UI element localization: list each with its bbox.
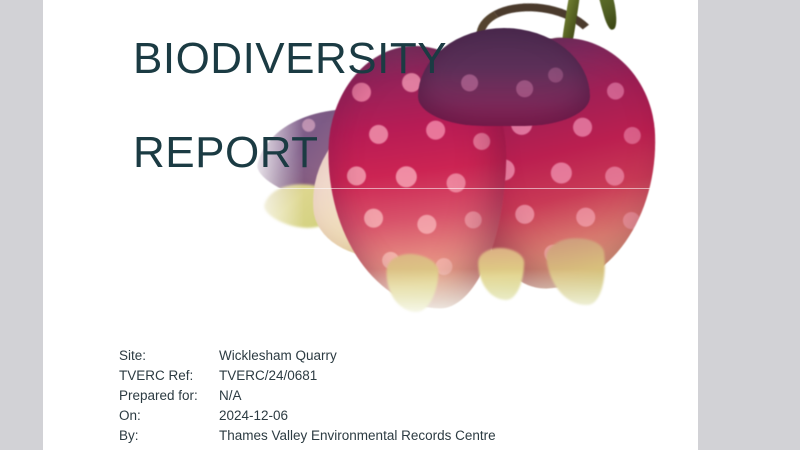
meta-label-tverc-ref: TVERC Ref: bbox=[119, 366, 219, 386]
meta-label-by: By: bbox=[119, 426, 219, 446]
meta-label-on: On: bbox=[119, 406, 219, 426]
meta-row-on: On: 2024-12-06 bbox=[119, 406, 496, 426]
meta-row-by-continued: Library and Shop, etc. bbox=[119, 446, 496, 450]
meta-value-on: 2024-12-06 bbox=[219, 406, 288, 426]
meta-value-by-continued: Library and Shop, etc. bbox=[219, 446, 351, 450]
photo-fade-bottom bbox=[248, 269, 698, 331]
pdf-viewer[interactable]: BIODIVERSITY REPORT Site: Wicklesham Qua… bbox=[0, 0, 800, 450]
meta-value-site: Wicklesham Quarry bbox=[219, 346, 337, 366]
meta-value-prepared-for: N/A bbox=[219, 386, 242, 406]
meta-row-site: Site: Wicklesham Quarry bbox=[119, 346, 496, 366]
meta-label-site: Site: bbox=[119, 346, 219, 366]
meta-value-tverc-ref: TVERC/24/0681 bbox=[219, 366, 317, 386]
meta-row-tverc-ref: TVERC Ref: TVERC/24/0681 bbox=[119, 366, 496, 386]
meta-row-by: By: Thames Valley Environmental Records … bbox=[119, 426, 496, 446]
meta-row-prepared-for: Prepared for: N/A bbox=[119, 386, 496, 406]
meta-label-prepared-for: Prepared for: bbox=[119, 386, 219, 406]
document-page: BIODIVERSITY REPORT Site: Wicklesham Qua… bbox=[43, 0, 698, 450]
page-title-line-1: BIODIVERSITY bbox=[133, 35, 447, 82]
page-title: BIODIVERSITY REPORT bbox=[133, 0, 447, 223]
page-title-line-2: REPORT bbox=[133, 129, 447, 176]
report-metadata: Site: Wicklesham Quarry TVERC Ref: TVERC… bbox=[119, 346, 496, 450]
flower-leaf bbox=[592, 0, 621, 31]
meta-value-by: Thames Valley Environmental Records Cent… bbox=[219, 426, 496, 446]
